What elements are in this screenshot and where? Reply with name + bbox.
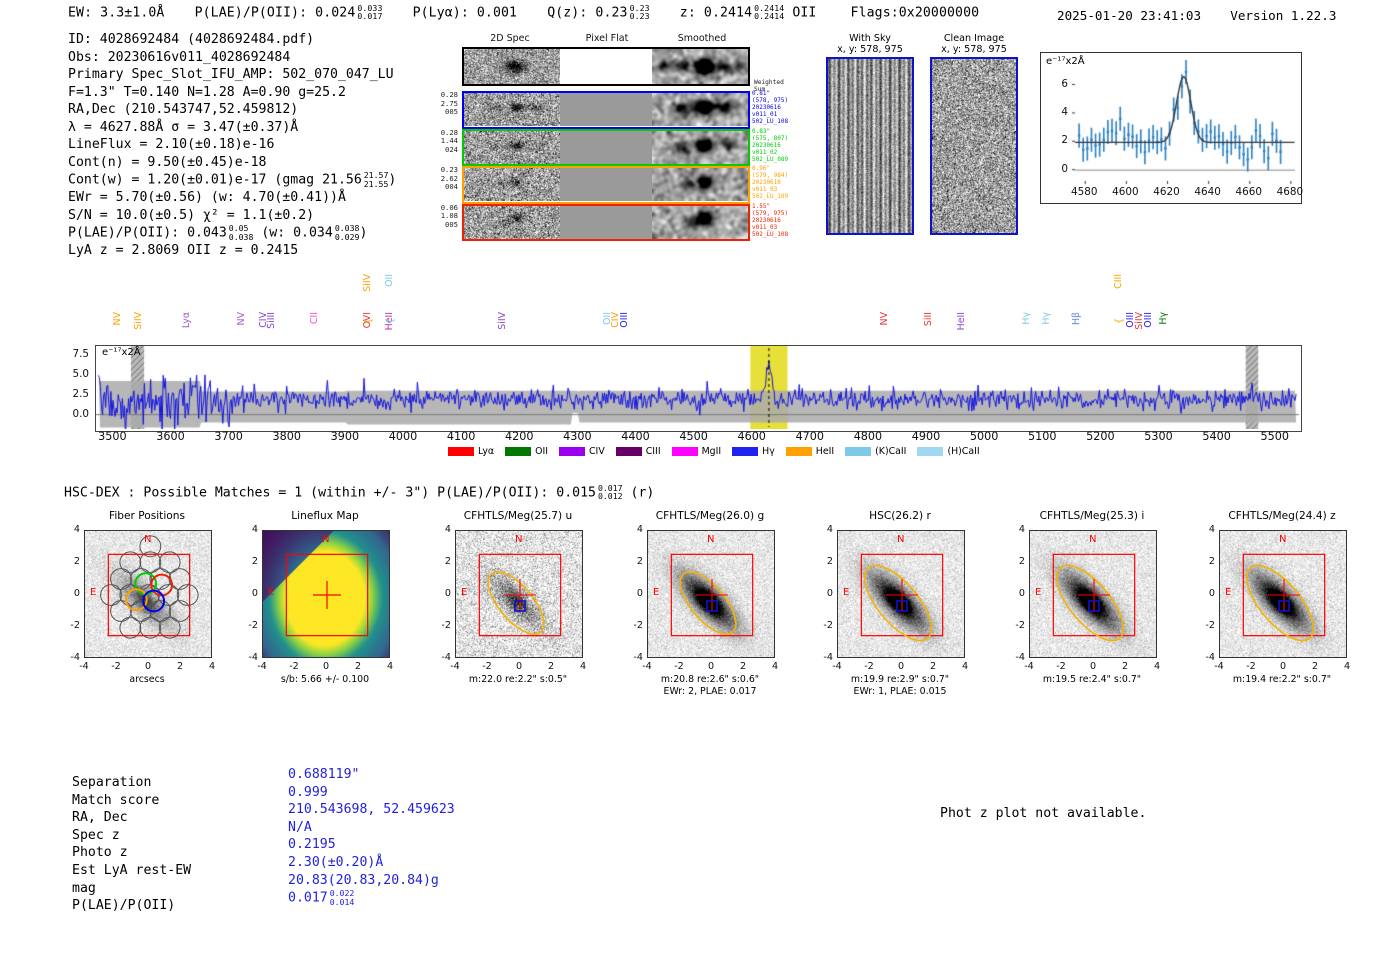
cutout-ytick: -2 — [435, 620, 451, 631]
fiber-row — [462, 204, 750, 242]
info-radec: RA,Dec (210.543747,52.459812) — [68, 101, 396, 119]
cutout-xtick: -2 — [104, 661, 128, 672]
emission-line-label: SiIV — [497, 312, 508, 330]
legend-item: OII — [505, 446, 548, 457]
cutout-xtick: 0 — [314, 661, 338, 672]
cutout-image[interactable] — [1029, 530, 1157, 658]
cutout-panel: CFHTLS/Meg(24.4) zNE-4-2024420-2-4m:19.4… — [1197, 510, 1367, 735]
east-marker: E — [1035, 587, 1041, 598]
cutout-ytick: -2 — [64, 620, 80, 631]
spectrum-units: e⁻¹⁷x2Å — [102, 347, 141, 358]
fiber-right-label: 1.55"(579, 975)20230616v011_03502_LU_108 — [752, 203, 822, 238]
cutout-footnote-1: m:20.8 re:2.6" s:0.6" — [625, 674, 795, 685]
cutout-overlay — [1030, 531, 1157, 658]
info-sn-chi2: S/N = 10.0(±0.5) χ² = 1.1(±0.2) — [68, 207, 396, 225]
match-value: 210.543698, 52.459623 — [288, 801, 455, 819]
cutout-ytick: -4 — [1199, 652, 1215, 663]
cutout-ytick: 0 — [435, 588, 451, 599]
linefit-xtick: 4640 — [1193, 186, 1223, 198]
photz-unavailable-message: Phot z plot not available. — [940, 806, 1146, 821]
version: Version 1.22.3 — [1230, 8, 1336, 23]
match-label: Match score — [72, 792, 191, 810]
spectrum-xtick: 4000 — [381, 430, 425, 443]
spectrum-xtick: 5200 — [1078, 430, 1122, 443]
cutout-image[interactable] — [837, 530, 965, 658]
cutout-xtick: 2 — [539, 661, 563, 672]
cutout-ytick: -2 — [1199, 620, 1215, 631]
cutout-footnote-1: s/b: 5.66 +/- 0.100 — [240, 674, 410, 685]
cutout-overlay — [648, 531, 775, 658]
cutout-ytick: -4 — [817, 652, 833, 663]
legend-label: (K)CaII — [875, 446, 906, 457]
header-ew: EW: 3.3±1.0Å — [68, 5, 164, 20]
fiber-row — [462, 91, 750, 129]
spectrum-line-labels: NV{SiIV{Lyα{NV{CIV{SiIII{CII{OVI{HeII{Si… — [0, 276, 1400, 346]
fiber-left-label: 0.232.62004 — [424, 166, 458, 192]
header-plae: P(LAE)/P(OII): 0.024 — [195, 5, 356, 20]
emission-line-label: Hβ — [1071, 312, 1082, 325]
cutout-title: Fiber Positions — [62, 510, 232, 522]
legend-label: MgII — [702, 446, 722, 457]
cutout-ytick: 0 — [817, 588, 833, 599]
header-timestamp-block: 2025-01-20 23:41:03 Version 1.22.3 — [1057, 8, 1336, 23]
cutout-ytick: -4 — [435, 652, 451, 663]
cutout-xtick: 0 — [699, 661, 723, 672]
cutout-ytick: -2 — [1009, 620, 1025, 631]
header-plae-range: 0.0330.017 — [357, 4, 382, 21]
cutout-xtick: 4 — [200, 661, 224, 672]
cutout-ytick: 4 — [242, 524, 258, 535]
linefit-xtick: 4680 — [1275, 186, 1305, 198]
cutout-xtick: -2 — [475, 661, 499, 672]
cutout-image[interactable] — [84, 530, 212, 658]
timestamp: 2025-01-20 23:41:03 — [1057, 8, 1201, 23]
spectrum-ytick: 0.0 — [57, 408, 89, 420]
cutout-ytick: 0 — [242, 588, 258, 599]
spectrum-xtick: 3500 — [90, 430, 134, 443]
header-z-type: OII — [792, 5, 816, 20]
spectrum-xtick: 4300 — [555, 430, 599, 443]
cutout-overlay — [838, 531, 965, 658]
cutout-ytick: 4 — [1009, 524, 1025, 535]
cutout-ytick: 4 — [64, 524, 80, 535]
spectrum-xtick: 3900 — [323, 430, 367, 443]
cutout-title: CFHTLS/Meg(25.3) i — [1007, 510, 1177, 522]
clean-image-panel: Clean Image x, y: 578, 975 — [930, 33, 1018, 235]
clean-image-coords: x, y: 578, 975 — [930, 44, 1018, 55]
match-label: Photo z — [72, 844, 191, 862]
match-values-column: 0.688119"0.999210.543698, 52.459623N/A0.… — [288, 766, 455, 907]
fiber-right-label: 0.96"(579, 984)20230616v011_03502_LU_109 — [752, 165, 822, 200]
hscdex-plae-range: 0.0170.012 — [598, 484, 623, 501]
emission-line-label: Lyα — [181, 312, 192, 328]
legend-item: (H)CaII — [917, 446, 979, 457]
cutout-ytick: 2 — [1009, 556, 1025, 567]
cutout-image[interactable] — [647, 530, 775, 658]
north-marker: N — [322, 534, 329, 545]
legend-swatch — [448, 447, 474, 456]
spec2d-montage: 2D Spec Pixel Flat Smoothed Weighted Sum — [460, 33, 760, 253]
linefit-ytick: 6 — [1052, 78, 1068, 90]
spectrum-xtick: 5100 — [1020, 430, 1064, 443]
pixel-flat-cell — [560, 131, 652, 164]
match-value: 0.0170.0220.014 — [288, 889, 455, 907]
with-sky-panel: With Sky x, y: 578, 975 — [826, 33, 914, 235]
spectrum-xtick: 3700 — [207, 430, 251, 443]
legend-swatch — [732, 447, 758, 456]
spectrum-xtick: 4200 — [497, 430, 541, 443]
emission-line-brace: { — [385, 318, 396, 324]
fiber-right-label: 0.83"(575, 807)20230616v011_02502_LU_089 — [752, 128, 822, 163]
spectrum-legend: LyαOIICIVCIIIMgIIHγHeII(K)CaII(H)CaII — [448, 446, 980, 457]
emission-line-label: NV — [879, 312, 890, 325]
cutout-xtick: 0 — [1271, 661, 1295, 672]
legend-label: HeII — [816, 446, 834, 457]
cutout-xtick: 2 — [731, 661, 755, 672]
legend-item: Lyα — [448, 446, 494, 457]
legend-item: (K)CaII — [845, 446, 906, 457]
cutout-title: CFHTLS/Meg(24.4) z — [1197, 510, 1367, 522]
info-obs: Obs: 20230616v011_4028692484 — [68, 49, 396, 67]
east-marker: E — [653, 587, 659, 598]
linefit-xtick: 4600 — [1110, 186, 1140, 198]
emission-line-label: SiIV — [133, 312, 144, 330]
north-marker: N — [1089, 534, 1096, 545]
legend-label: Lyα — [478, 446, 494, 457]
cutout-ytick: 4 — [627, 524, 643, 535]
cutout-ytick: 2 — [817, 556, 833, 567]
legend-swatch — [505, 447, 531, 456]
info-seeing: F=1.3" T=0.140 N=1.28 A=0.90 g=25.2 — [68, 84, 396, 102]
cutout-ytick: -4 — [242, 652, 258, 663]
cutout-xtick: -2 — [282, 661, 306, 672]
cutout-xtick: 2 — [1303, 661, 1327, 672]
emission-line-label: Hγ — [1158, 312, 1169, 325]
linefit-units: e⁻¹⁷x2Å — [1046, 56, 1085, 67]
cutout-xtick: 4 — [1145, 661, 1169, 672]
east-marker: E — [843, 587, 849, 598]
pixel-flat-cell — [560, 93, 652, 126]
fiber-left-label: 0.281.44024 — [424, 129, 458, 155]
emission-line-label: OII — [384, 274, 395, 287]
cutout-row: Fiber PositionsNE-4-2024420-2-4arcsecsLi… — [0, 510, 1400, 740]
fiber-left-label: 0.061.08005 — [424, 204, 458, 230]
spec2d-col-title-pixelflat: Pixel Flat — [560, 33, 654, 44]
spectrum-xtick: 4700 — [788, 430, 832, 443]
cutout-xtick: -2 — [1239, 661, 1263, 672]
cutout-image[interactable] — [455, 530, 583, 658]
with-sky-coords: x, y: 578, 975 — [826, 44, 914, 55]
cutout-footnote-1: m:19.4 re:2.2" s:0.7" — [1197, 674, 1367, 685]
legend-label: OII — [535, 446, 548, 457]
cutout-xtick: 2 — [346, 661, 370, 672]
legend-swatch — [616, 447, 642, 456]
spectrum-xtick: 4400 — [613, 430, 657, 443]
cutout-xtick: 2 — [1113, 661, 1137, 672]
info-redshifts: LyA z = 2.8069 OII z = 0.2415 — [68, 242, 396, 260]
match-label: P(LAE)/P(OII) — [72, 897, 191, 915]
cutout-ytick: -4 — [627, 652, 643, 663]
emission-line-label: CII — [309, 312, 320, 324]
match-value: 0.999 — [288, 784, 455, 802]
emission-line-label: HeII — [956, 312, 967, 330]
emission-line-label: Hγ — [1021, 312, 1032, 325]
legend-label: CIV — [589, 446, 605, 457]
cutout-footnote-1: m:19.5 re:2.4" s:0.7" — [1007, 674, 1177, 685]
east-marker: E — [1225, 587, 1231, 598]
north-marker: N — [1279, 534, 1286, 545]
detection-info-block: ID: 4028692484 (4028692484.pdf) Obs: 202… — [68, 31, 396, 260]
cutout-xtick: 0 — [1081, 661, 1105, 672]
cutout-ytick: 4 — [435, 524, 451, 535]
spectrum-xtick: 5000 — [962, 430, 1006, 443]
east-marker: E — [461, 587, 467, 598]
fiber-right-label: 0.81"(578, 975)20230616v011_01502_LU_108 — [752, 90, 822, 125]
match-labels-column: SeparationMatch scoreRA, DecSpec zPhoto … — [72, 774, 191, 915]
spectrum-xtick: 4600 — [730, 430, 774, 443]
cutout-xtick: 4 — [763, 661, 787, 672]
cutout-ytick: -4 — [1009, 652, 1025, 663]
cutout-overlay — [1220, 531, 1347, 658]
cutout-overlay — [456, 531, 583, 658]
linefit-ytick: 4 — [1052, 106, 1068, 118]
match-value: 0.2195 — [288, 836, 455, 854]
legend-item: HeII — [786, 446, 834, 457]
fiber-right-labels: 0.81"(578, 975)20230616v011_01502_LU_108… — [752, 88, 822, 248]
legend-item: CIV — [559, 446, 605, 457]
cutout-footnote-2: EWr: 1, PLAE: 0.015 — [815, 686, 985, 697]
north-marker: N — [897, 534, 904, 545]
spectrum-xtick: 5400 — [1195, 430, 1239, 443]
cutout-xtick: 4 — [378, 661, 402, 672]
cutout-xtick: -2 — [667, 661, 691, 672]
linefit-ytick: 0 — [1052, 163, 1068, 175]
info-plae-range: 0.050.038 — [229, 224, 254, 241]
pixel-flat-cell — [560, 206, 652, 239]
info-cont-w: Cont(w) = 1.20(±0.01)e-17 (gmag 21.5621.… — [68, 171, 396, 189]
info-primary-spec: Primary Spec_Slot_IFU_AMP: 502_070_047_L… — [68, 66, 396, 84]
cutout-ytick: -2 — [817, 620, 833, 631]
match-value: 2.30(±0.20)Å — [288, 854, 455, 872]
cutout-ytick: 2 — [1199, 556, 1215, 567]
cutout-xtick: -2 — [1049, 661, 1073, 672]
fiber-left-labels: 0.282.750050.281.440240.232.620040.061.0… — [424, 88, 458, 248]
header-plya: P(Lyα): 0.001 — [413, 5, 518, 20]
match-label: Est LyA rest-EW — [72, 862, 191, 880]
spectrum-xtick: 3800 — [265, 430, 309, 443]
emission-line-label: SiIV — [362, 274, 373, 292]
cutout-xtick: 0 — [507, 661, 531, 672]
spec2d-col-title-2dspec: 2D Spec — [460, 33, 560, 44]
cutout-xtick: 2 — [168, 661, 192, 672]
cutout-title: CFHTLS/Meg(25.7) u — [433, 510, 603, 522]
cutout-ytick: 0 — [1009, 588, 1025, 599]
cutout-ytick: 2 — [627, 556, 643, 567]
cutout-ytick: 2 — [64, 556, 80, 567]
cutout-xtick: 0 — [889, 661, 913, 672]
fiber-rows — [462, 91, 750, 241]
east-marker: E — [90, 587, 96, 598]
cutout-panel: CFHTLS/Meg(26.0) gNE-4-2024420-2-4m:20.8… — [625, 510, 795, 735]
legend-swatch — [845, 447, 871, 456]
cutout-title: HSC(26.2) r — [815, 510, 985, 522]
emission-line-label: NV — [112, 312, 123, 325]
header-qz: Q(z): 0.23 — [547, 5, 627, 20]
spectrum-plot: e⁻¹⁷x2Å — [95, 345, 1302, 432]
emission-line-brace: { — [363, 318, 374, 324]
spectrum-xtick: 5500 — [1253, 430, 1297, 443]
pixel-flat-cell — [560, 168, 652, 201]
info-lambda: λ = 4627.88Å σ = 3.47(±0.37)Å — [68, 119, 396, 137]
match-label: Spec z — [72, 827, 191, 845]
cutout-footnote-2: EWr: 2, PLAE: 0.017 — [625, 686, 795, 697]
cutout-xtick: 4 — [953, 661, 977, 672]
cutout-panel: CFHTLS/Meg(25.7) uNE-4-2024420-2-4m:22.0… — [433, 510, 603, 735]
cutout-ytick: -4 — [64, 652, 80, 663]
east-marker: E — [268, 587, 274, 598]
info-id: ID: 4028692484 (4028692484.pdf) — [68, 31, 396, 49]
header-z-range: 0.24140.2414 — [754, 4, 784, 21]
cutout-image[interactable] — [1219, 530, 1347, 658]
spec2d-col-title-smoothed: Smoothed — [654, 33, 750, 44]
weighted-sum-strip — [462, 47, 750, 86]
spectrum-xtick: 4800 — [846, 430, 890, 443]
legend-item: CIII — [616, 446, 661, 457]
cutout-xtick: 2 — [921, 661, 945, 672]
cutout-ytick: 0 — [1199, 588, 1215, 599]
match-label: mag — [72, 880, 191, 898]
cutout-ytick: 2 — [435, 556, 451, 567]
spectrum-xtick: 4100 — [439, 430, 483, 443]
north-marker: N — [144, 534, 151, 545]
match-value: 0.688119" — [288, 766, 455, 784]
cutout-ytick: -2 — [242, 620, 258, 631]
cutout-xtick: -2 — [857, 661, 881, 672]
legend-item: Hγ — [732, 446, 775, 457]
cutout-xtick: 4 — [571, 661, 595, 672]
cutout-title: CFHTLS/Meg(26.0) g — [625, 510, 795, 522]
north-marker: N — [707, 534, 714, 545]
cutout-overlay — [263, 531, 390, 658]
cutout-ytick: -2 — [627, 620, 643, 631]
spectrum-ytick: 7.5 — [57, 348, 89, 360]
cutout-ytick: 4 — [817, 524, 833, 535]
spectrum-yticks: 0.02.55.07.5 — [0, 345, 95, 435]
match-label: RA, Dec — [72, 809, 191, 827]
spectrum-xtick: 4900 — [904, 430, 948, 443]
info-cont-n: Cont(n) = 9.50(±0.45)e-18 — [68, 154, 396, 172]
match-plae-range: 0.0220.014 — [330, 889, 355, 906]
linefit-xtick: 4660 — [1234, 186, 1264, 198]
info-ewr: EWr = 5.70(±0.56) (w: 4.70(±0.41))Å — [68, 189, 396, 207]
spectrum-xtick: 3600 — [149, 430, 193, 443]
header-qz-range: 0.230.23 — [630, 4, 650, 21]
spectrum-xtick: 5300 — [1137, 430, 1181, 443]
emission-line-label: SiII — [923, 312, 934, 326]
cutout-footnote-1: m:19.9 re:2.9" s:0.7" — [815, 674, 985, 685]
cutout-ytick: 0 — [627, 588, 643, 599]
fiber-left-label: 0.282.75005 — [424, 91, 458, 117]
header-summary-line: EW: 3.3±1.0Å P(LAE)/P(OII): 0.0240.0330.… — [68, 4, 979, 21]
fiber-row — [462, 129, 750, 167]
info-plae-w-range: 0.0380.029 — [335, 224, 360, 241]
emission-line-label: CIII — [1113, 274, 1124, 289]
match-label: Separation — [72, 774, 191, 792]
north-marker: N — [515, 534, 522, 545]
match-value: 20.83(20.83,20.84)g — [288, 872, 455, 890]
fiber-row — [462, 166, 750, 204]
legend-item: MgII — [672, 446, 722, 457]
legend-swatch — [559, 447, 585, 456]
cutout-panel: Fiber PositionsNE-4-2024420-2-4arcsecs — [62, 510, 232, 735]
hscdex-summary: HSC-DEX : Possible Matches = 1 (within +… — [64, 484, 654, 501]
cutout-panel: HSC(26.2) rNE-4-2024420-2-4m:19.9 re:2.9… — [815, 510, 985, 735]
legend-label: Hγ — [762, 446, 775, 457]
clean-image-title: Clean Image — [930, 33, 1018, 44]
with-sky-title: With Sky — [826, 33, 914, 44]
line-fit-plot: e⁻¹⁷x2Å 458046004620464046604680 0246 — [1040, 52, 1302, 228]
header-flags: Flags:0x20000000 — [851, 5, 980, 20]
cutout-ytick: 4 — [1199, 524, 1215, 535]
cutout-overlay — [85, 531, 212, 658]
legend-swatch — [672, 447, 698, 456]
legend-label: (H)CaII — [947, 446, 979, 457]
emission-line-label: SiIII — [266, 312, 277, 329]
match-value: N/A — [288, 819, 455, 837]
legend-swatch — [786, 447, 812, 456]
legend-swatch — [917, 447, 943, 456]
cutout-title: Lineflux Map — [240, 510, 410, 522]
info-lineflux: LineFlux = 2.10(±0.18)e-16 — [68, 136, 396, 154]
linefit-ytick: 2 — [1052, 134, 1068, 146]
info-plae: P(LAE)/P(OII): 0.0430.050.038 (w: 0.0340… — [68, 224, 396, 242]
emission-line-brace: { — [1114, 318, 1125, 324]
cutout-panel: Lineflux MapNE-4-2024420-2-4s/b: 5.66 +/… — [240, 510, 410, 735]
emission-line-label: OIII — [619, 312, 630, 328]
cutout-ytick: 2 — [242, 556, 258, 567]
info-gmag-range: 21.5721.55 — [364, 171, 389, 188]
emission-line-label: OIII — [1143, 312, 1154, 328]
linefit-xtick: 4620 — [1152, 186, 1182, 198]
spectrum-ytick: 2.5 — [57, 388, 89, 400]
cutout-xtick: 4 — [1335, 661, 1359, 672]
cutout-ytick: 0 — [64, 588, 80, 599]
linefit-xtick: 4580 — [1069, 186, 1099, 198]
spectrum-xtick: 4500 — [672, 430, 716, 443]
header-z: z: 0.2414 — [680, 5, 752, 20]
cutout-image[interactable] — [262, 530, 390, 658]
emission-line-label: Hγ — [1041, 312, 1052, 325]
legend-label: CIII — [646, 446, 661, 457]
cutout-panel: CFHTLS/Meg(25.3) iNE-4-2024420-2-4m:19.5… — [1007, 510, 1177, 735]
spectrum-xticks: 3500360037003800390040004100420043004400… — [0, 430, 1400, 446]
cutout-footnote-1: arcsecs — [62, 674, 232, 685]
cutout-xtick: 0 — [136, 661, 160, 672]
spectrum-ytick: 5.0 — [57, 368, 89, 380]
emission-line-label: NV — [236, 312, 247, 325]
cutout-footnote-1: m:22.0 re:2.2" s:0.5" — [433, 674, 603, 685]
